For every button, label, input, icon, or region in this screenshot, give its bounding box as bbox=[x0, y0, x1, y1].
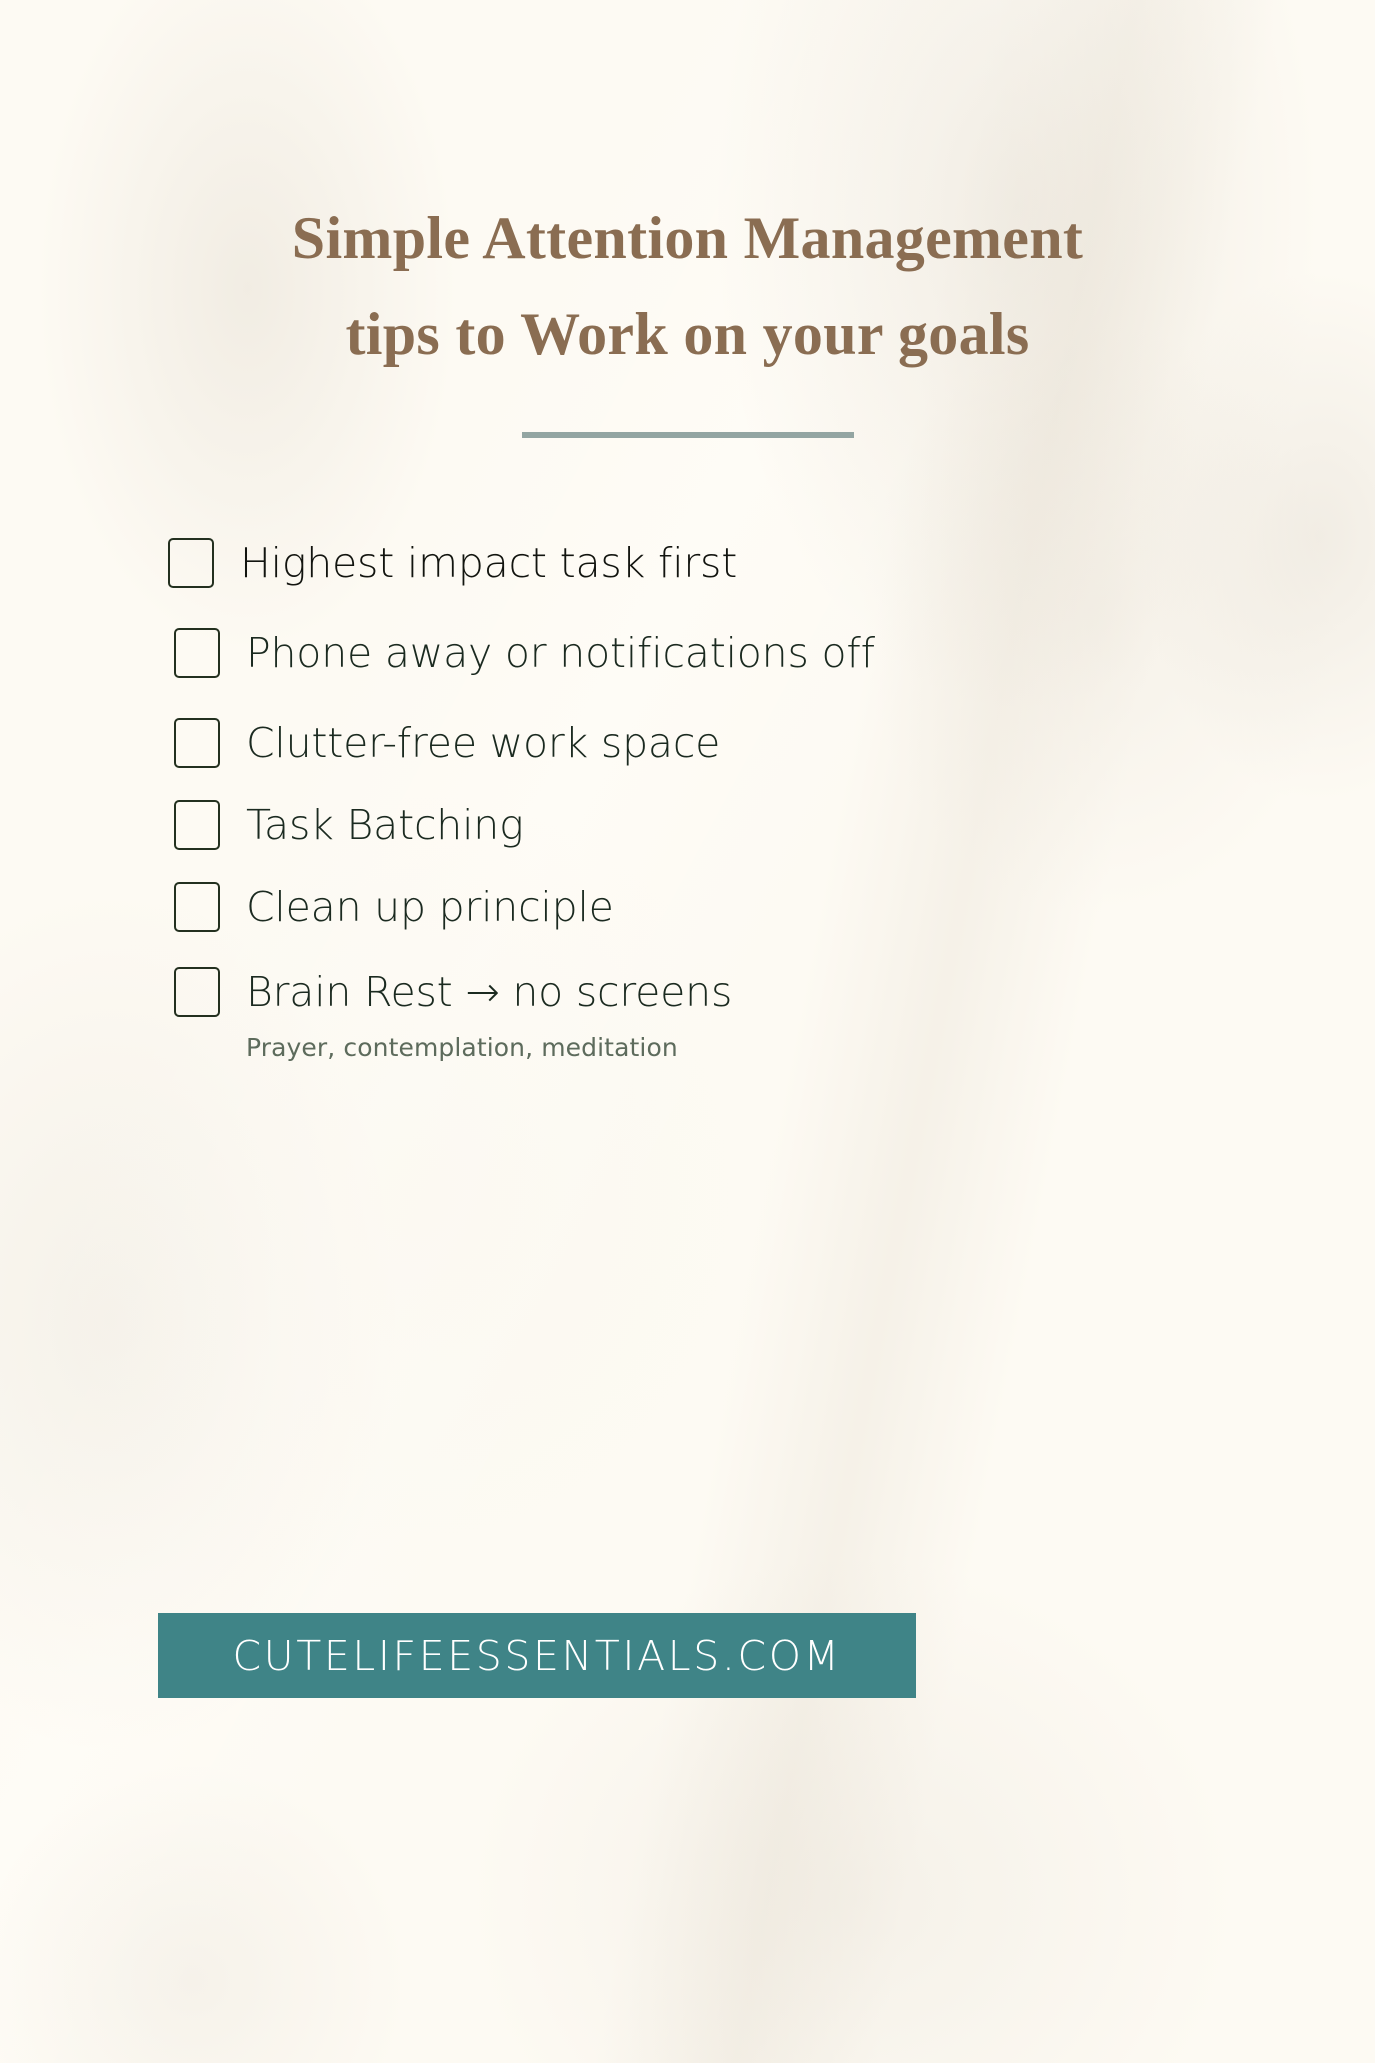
checklist-item-label: Brain Rest → no screens bbox=[246, 968, 732, 1016]
checklist-item-highest-impact-task-first[interactable]: Highest impact task first bbox=[168, 538, 1228, 588]
checklist-item-label: Clean up principle bbox=[246, 883, 614, 931]
checklist-sub-note: Prayer, contemplation, meditation bbox=[246, 1033, 1228, 1062]
title-line-2: tips to Work on your goals bbox=[0, 286, 1375, 382]
checklist-item-clean-up-principle[interactable]: Clean up principle bbox=[168, 882, 1228, 932]
checklist: Highest impact task first Phone away or … bbox=[168, 538, 1228, 1062]
checkbox-icon[interactable] bbox=[168, 538, 214, 588]
checkbox-icon[interactable] bbox=[174, 882, 220, 932]
checklist-item-label: Phone away or notifications off bbox=[246, 629, 875, 677]
checklist-item-label: Task Batching bbox=[246, 801, 523, 849]
checklist-item-task-batching[interactable]: Task Batching bbox=[168, 800, 1228, 850]
checklist-item-label: Highest impact task first bbox=[240, 539, 737, 587]
checklist-item-phone-away-or-notifications-off[interactable]: Phone away or notifications off bbox=[168, 628, 1228, 678]
title-divider bbox=[522, 432, 854, 438]
title-line-1: Simple Attention Management bbox=[0, 190, 1375, 286]
website-banner[interactable]: CUTELIFEESSENTIALS.COM bbox=[158, 1613, 916, 1698]
checklist-item-brain-rest-no-screens[interactable]: Brain Rest → no screens bbox=[168, 967, 1228, 1017]
page-title: Simple Attention Management tips to Work… bbox=[0, 190, 1375, 382]
checklist-item-clutter-free-work-space[interactable]: Clutter-free work space bbox=[168, 718, 1228, 768]
checkbox-icon[interactable] bbox=[174, 718, 220, 768]
checkbox-icon[interactable] bbox=[174, 967, 220, 1017]
checkbox-icon[interactable] bbox=[174, 628, 220, 678]
checkbox-icon[interactable] bbox=[174, 800, 220, 850]
checklist-item-label: Clutter-free work space bbox=[246, 719, 720, 767]
website-url-label: CUTELIFEESSENTIALS.COM bbox=[232, 1632, 841, 1680]
pin-graphic-canvas: Simple Attention Management tips to Work… bbox=[0, 0, 1375, 2063]
